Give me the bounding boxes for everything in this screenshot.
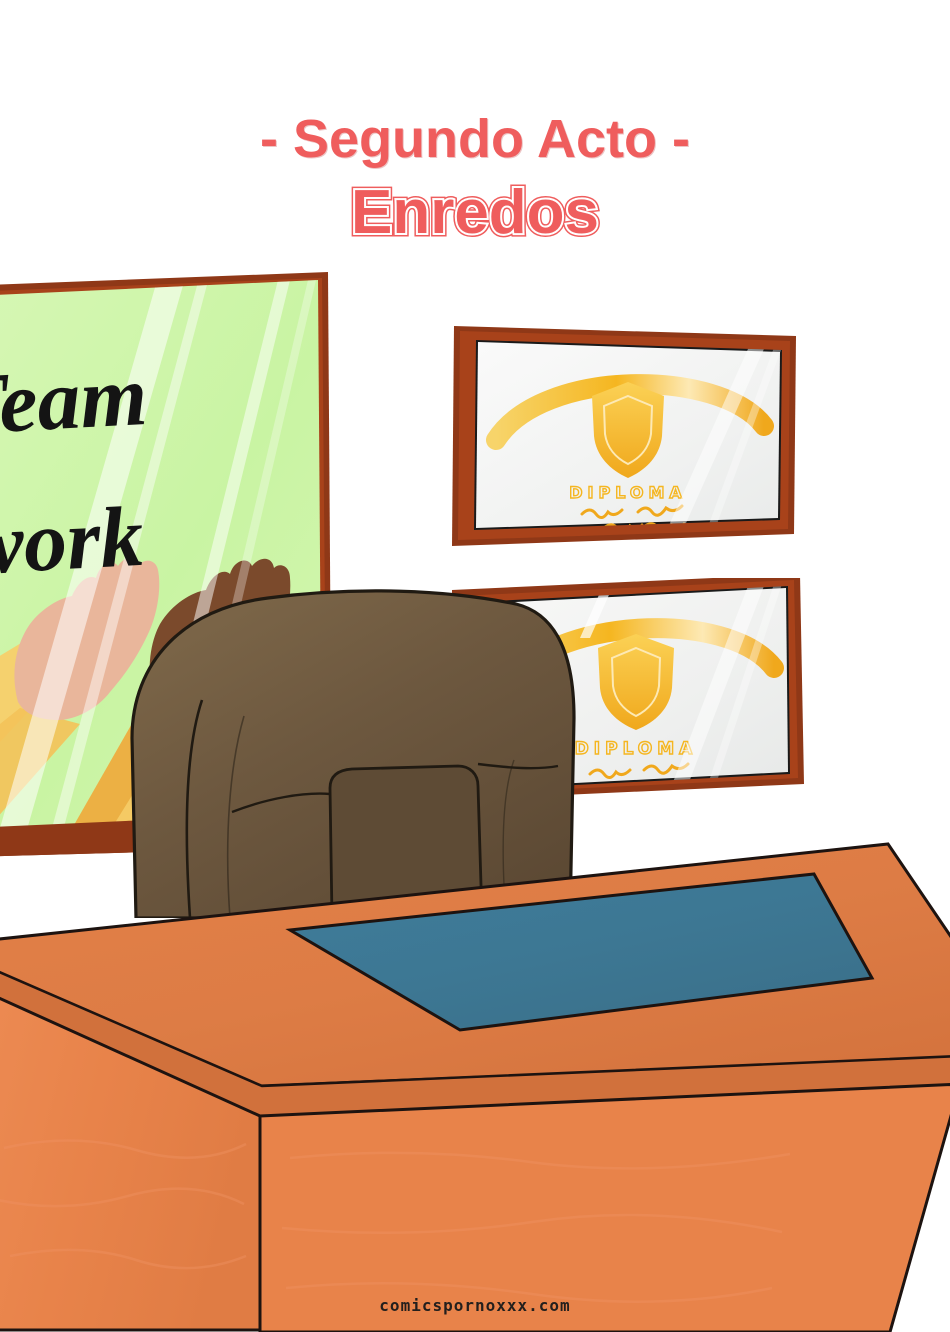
chapter-title-fill: Enredos (351, 182, 599, 244)
title-block: - Segundo Acto - Enredos Enredos Enredos (0, 112, 950, 244)
site-watermark: comicspornoxxx.com (0, 1296, 950, 1315)
poster-line1: Team (0, 347, 149, 453)
chapter-title: Enredos Enredos Enredos (0, 182, 950, 244)
diploma-title-2: DIPLOMA (575, 739, 698, 759)
diploma-title-1: DIPLOMA (569, 483, 687, 502)
executive-desk (0, 818, 950, 1332)
poster-line2: work (0, 488, 146, 593)
framed-diploma-upper: DIPLOMA (452, 322, 804, 554)
act-title: - Segundo Acto - (0, 112, 950, 166)
comic-panel: Team work Team work (0, 0, 950, 1332)
